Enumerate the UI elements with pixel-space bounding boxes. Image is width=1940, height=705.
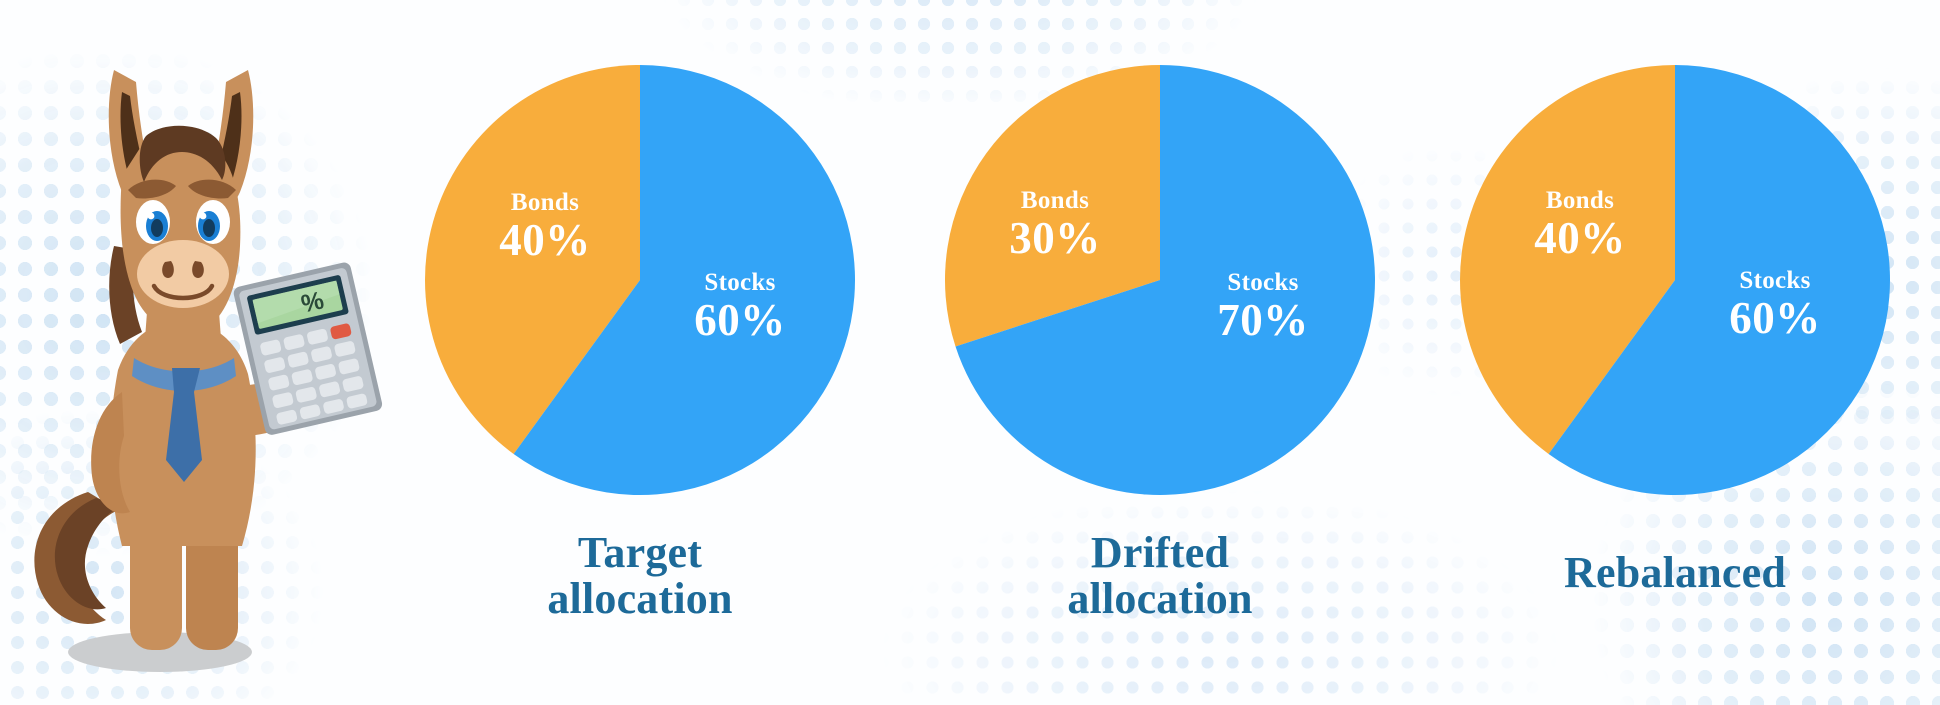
pie-3-caption-line-1: Rebalanced	[1465, 550, 1885, 596]
pie-chart-rebalanced: Bonds 40% Stocks 60% Rebalanced	[1455, 60, 1895, 500]
pie-chart-drifted-allocation: Bonds 30% Stocks 70% Drifted allocation	[940, 60, 1380, 500]
pie-3-caption: Rebalanced	[1465, 550, 1885, 596]
infographic-canvas: %	[0, 0, 1940, 705]
pie-1-caption-line-1: Target	[430, 530, 850, 576]
donkey-eye-glint-left	[148, 213, 155, 220]
pie-2-caption-line-1: Drifted	[950, 530, 1370, 576]
pie-1-caption-line-2: allocation	[430, 576, 850, 622]
pie-chart-1-svg	[420, 60, 860, 500]
pie-chart-3-svg	[1455, 60, 1895, 500]
donkey-pupil-left	[151, 219, 163, 237]
donkey-nostril-right	[192, 261, 204, 278]
donkey-mascot-illustration: %	[10, 40, 410, 680]
donkey-nostril-left	[162, 261, 174, 278]
donkey-eye-glint-right	[200, 213, 207, 220]
pie-chart-target-allocation: Bonds 40% Stocks 60% Target allocation	[420, 60, 860, 500]
donkey-mascot: %	[10, 40, 410, 680]
pie-chart-2-svg	[940, 60, 1380, 500]
donkey-pupil-right	[203, 219, 215, 237]
pie-1-caption: Target allocation	[430, 530, 850, 622]
pie-2-caption-line-2: allocation	[950, 576, 1370, 622]
pie-2-caption: Drifted allocation	[950, 530, 1370, 622]
